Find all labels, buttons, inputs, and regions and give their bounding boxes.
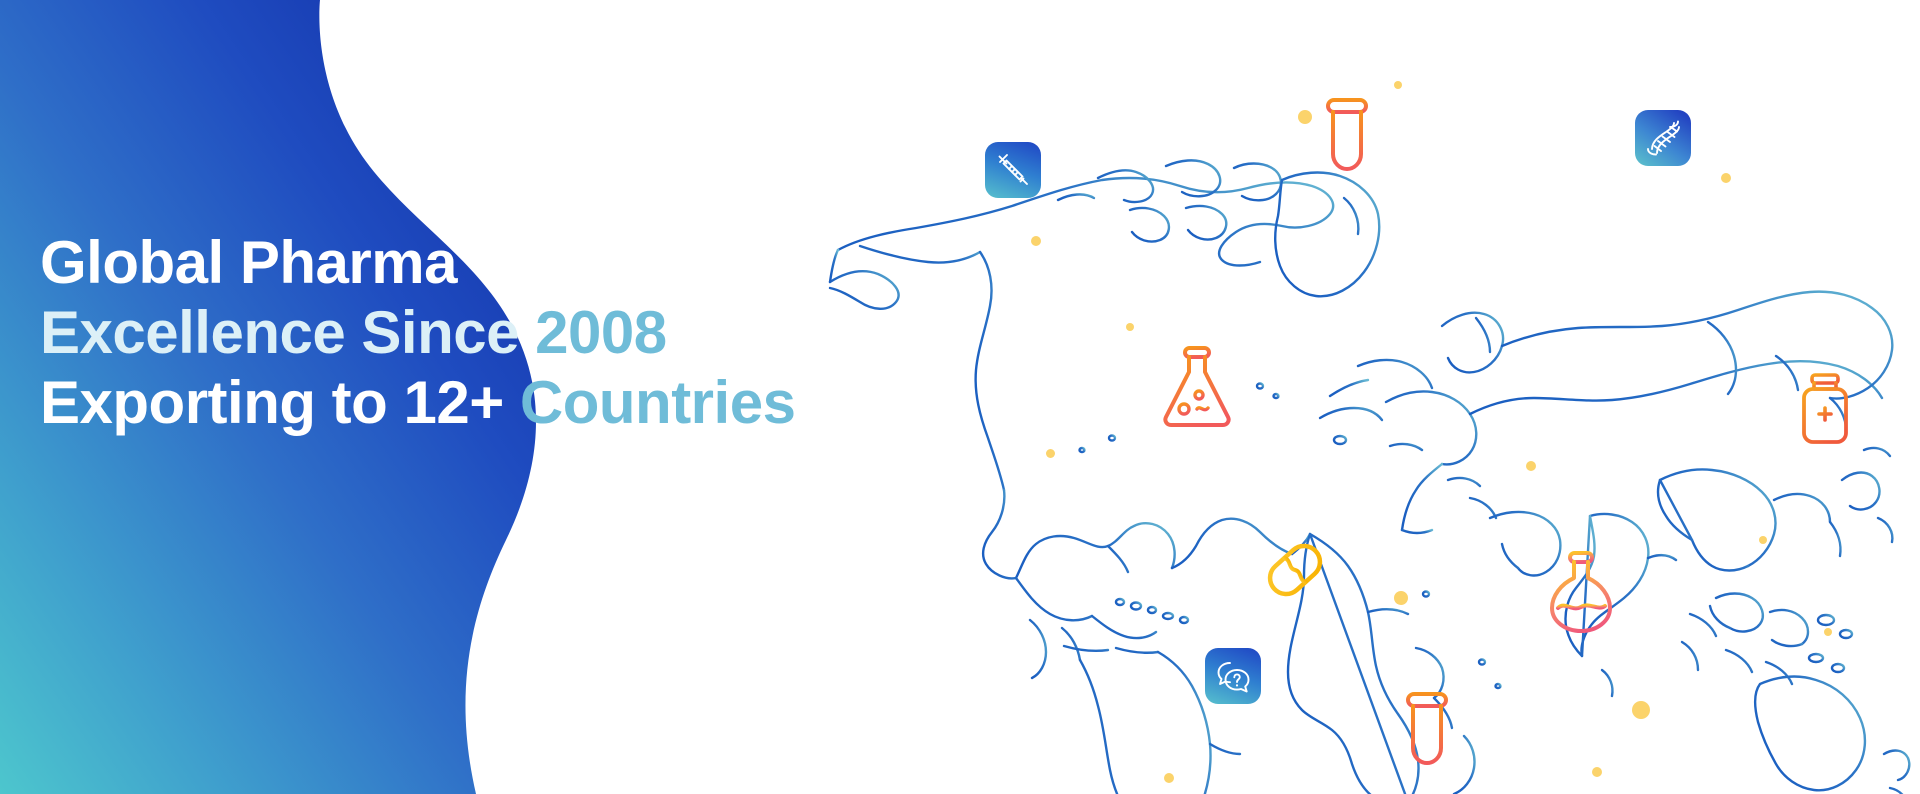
erlenmeyer-flask-icon xyxy=(1160,345,1234,429)
hero-banner: Global Pharma Excellence Since 2008 Expo… xyxy=(0,0,1920,794)
decorative-dot xyxy=(1394,81,1402,89)
decorative-dot xyxy=(1046,449,1055,458)
decorative-dot xyxy=(1824,628,1832,636)
decorative-dot xyxy=(1298,110,1312,124)
decorative-dot xyxy=(1759,536,1767,544)
test-tube-icon xyxy=(1320,96,1374,174)
decorative-dot xyxy=(1592,767,1602,777)
round-flask-icon xyxy=(1548,550,1614,634)
medicine-vial-icon xyxy=(1795,372,1855,446)
syringe-icon xyxy=(985,142,1041,198)
world-map-outline xyxy=(830,150,1920,790)
decorative-dot xyxy=(1632,701,1650,719)
test-tube-icon-2 xyxy=(1400,690,1454,768)
dna-icon xyxy=(1635,110,1691,166)
decorative-dot xyxy=(1721,173,1731,183)
decorative-dot xyxy=(1526,461,1536,471)
decorative-dot xyxy=(1126,323,1134,331)
decorative-dot xyxy=(1031,236,1041,246)
left-gradient-shape xyxy=(0,0,760,794)
decorative-dot xyxy=(1394,591,1408,605)
chat-question-icon xyxy=(1205,648,1261,704)
capsule-pill-icon xyxy=(1262,540,1328,600)
decorative-dot xyxy=(1164,773,1174,783)
